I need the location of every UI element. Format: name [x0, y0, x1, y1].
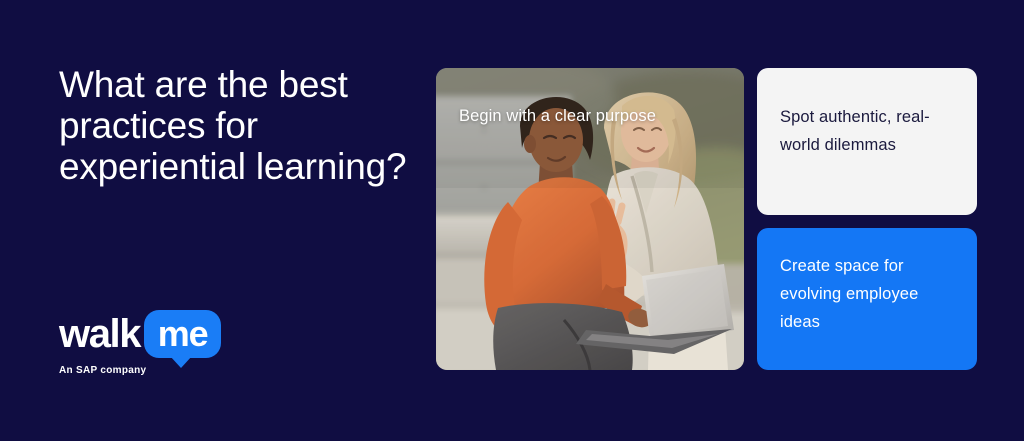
card-photo[interactable]: Begin with a clear purpose	[436, 68, 744, 370]
card-create-space[interactable]: Create space for evolving employee ideas	[757, 228, 977, 370]
slide-canvas: What are the best practices for experien…	[0, 0, 1024, 441]
logo-text-walk: walk	[59, 314, 140, 354]
left-column: What are the best practices for experien…	[59, 64, 419, 384]
card-photo-caption: Begin with a clear purpose	[459, 101, 659, 131]
card-spot-dilemmas[interactable]: Spot authentic, real-world dilemmas	[757, 68, 977, 215]
logo-text-me: me	[158, 316, 208, 352]
logo-tagline: An SAP company	[59, 365, 259, 376]
card-white-text: Spot authentic, real-world dilemmas	[780, 103, 960, 159]
card-blue-text: Create space for evolving employee ideas	[780, 252, 960, 336]
walkme-logo: walk me An SAP company	[59, 310, 259, 380]
page-title: What are the best practices for experien…	[59, 64, 414, 187]
logo-wordmark: walk me	[59, 310, 259, 358]
logo-speech-bubble-icon: me	[144, 310, 221, 358]
